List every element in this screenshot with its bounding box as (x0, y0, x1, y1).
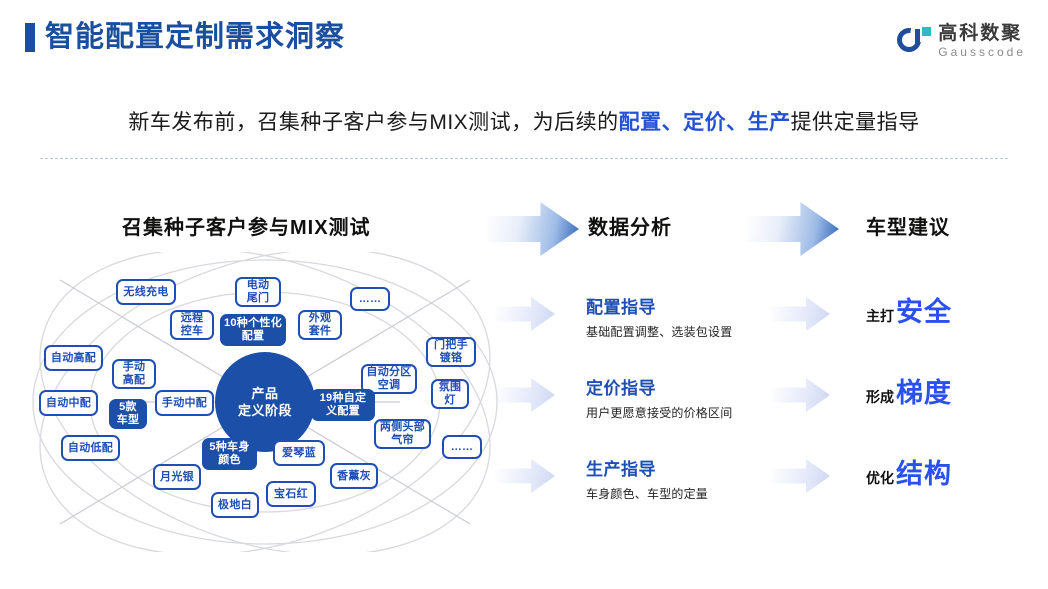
diagram-node: 香薰灰 (330, 463, 378, 489)
diagram-node-label: 手动高配 (123, 361, 146, 387)
analysis-item-pricing: 定价指导 用户更愿意接受的价格区间 (586, 378, 786, 421)
diagram-node: 外观套件 (298, 310, 342, 340)
section-divider (40, 158, 1008, 159)
title-accent-bar (25, 23, 35, 52)
suggestion-item-safety: 主打 安全 (866, 297, 952, 327)
diagram-node: 手动中配 (155, 390, 214, 416)
analysis-item-sub: 基础配置调整、选装包设置 (586, 324, 786, 340)
subtitle-highlight: 配置、定价、生产 (619, 111, 791, 134)
diagram-node-label: 门把手镀铬 (434, 339, 468, 365)
page-title: 智能配置定制需求洞察 (45, 19, 345, 55)
diagram-node: 爱琴蓝 (273, 440, 325, 466)
suggestion-prefix: 优化 (866, 468, 894, 488)
gausscode-logo-icon (897, 24, 931, 58)
diagram-node: 宝石红 (266, 481, 316, 507)
diagram-node-label: 月光银 (160, 471, 194, 484)
analysis-item-production: 生产指导 车身颜色、车型的定量 (586, 459, 786, 502)
logo-bar-shape (915, 29, 920, 45)
hub-node-product-definition: 产品 定义阶段 (215, 352, 315, 452)
flow-arrow-icon-2 (747, 202, 839, 256)
diagram-node-label: 无线充电 (123, 286, 168, 299)
suggestion-item-tier: 形成 梯度 (866, 378, 952, 408)
analysis-item-sub: 车身颜色、车型的定量 (586, 486, 786, 502)
diagram-node-label: 两侧头部气帘 (380, 421, 425, 447)
diagram-node-label: 19种自定义配置 (320, 392, 367, 418)
diagram-node: 19种自定义配置 (311, 389, 375, 421)
diagram-node-label: 10种个性化配置 (224, 317, 282, 343)
slide-header: 智能配置定制需求洞察 高科数聚 Gausscode (0, 0, 1048, 78)
diagram-node: 无线充电 (116, 279, 176, 305)
logo-text-en: Gausscode (938, 46, 1026, 58)
hub-line-1: 产品 (238, 385, 292, 402)
diagram-node-label: 外观套件 (309, 312, 332, 338)
diagram-node: 极地白 (211, 492, 259, 518)
diagram-node: 自动高配 (44, 345, 103, 371)
diagram-node: 电动尾门 (235, 277, 281, 307)
suggestion-keyword: 安全 (896, 297, 952, 327)
subtitle-part-1: 新车发布前，召集种子客户参与MIX测试，为后续的 (128, 111, 618, 134)
diagram-node: 10种个性化配置 (220, 314, 286, 346)
slide-subtitle: 新车发布前，召集种子客户参与MIX测试，为后续的配置、定价、生产提供定量指导 (0, 106, 1048, 136)
diagram-node: 门把手镀铬 (426, 337, 476, 367)
diagram-node-label: 自动分区空调 (366, 366, 411, 392)
diagram-node-label: …… (451, 441, 474, 454)
diagram-node: 手动高配 (112, 359, 156, 389)
diagram-node-label: 自动低配 (68, 442, 113, 455)
analysis-item-title: 配置指导 (586, 297, 786, 319)
diagram-node-label: 香薰灰 (337, 470, 371, 483)
suggestion-keyword: 梯度 (896, 378, 952, 408)
diagram-node: 自动低配 (61, 435, 120, 461)
analysis-item-title: 定价指导 (586, 378, 786, 400)
diagram-node: 月光银 (153, 464, 201, 490)
diagram-node-label: 手动中配 (162, 397, 207, 410)
diagram-node-label: …… (359, 293, 382, 306)
flow-arrow-icon-1 (487, 202, 579, 256)
suggestion-keyword: 结构 (896, 459, 952, 489)
diagram-node: 5款车型 (109, 399, 147, 429)
diagram-node: 氛围灯 (431, 379, 469, 409)
column-heading-middle: 数据分析 (588, 211, 672, 240)
logo-square-shape (922, 27, 931, 36)
column-heading-right: 车型建议 (866, 211, 950, 240)
suggestion-prefix: 形成 (866, 387, 894, 407)
analysis-item-config: 配置指导 基础配置调整、选装包设置 (586, 297, 786, 340)
suggestion-prefix: 主打 (866, 306, 894, 326)
diagram-node-label: 氛围灯 (439, 381, 462, 407)
diagram-node: 自动中配 (39, 390, 98, 416)
column-heading-left: 召集种子客户参与MIX测试 (122, 211, 371, 240)
logo-text-cn: 高科数聚 (938, 24, 1026, 43)
hub-line-2: 定义阶段 (238, 402, 292, 419)
diagram-node-label: 电动尾门 (247, 279, 270, 305)
diagram-node-label: 自动高配 (51, 352, 96, 365)
brand-logo: 高科数聚 Gausscode (897, 20, 1026, 62)
analysis-item-sub: 用户更愿意接受的价格区间 (586, 405, 786, 421)
diagram-node-label: 5种车身颜色 (209, 441, 249, 467)
diagram-node-label: 远程控车 (181, 312, 204, 338)
diagram-node: 远程控车 (170, 310, 214, 340)
diagram-node: 两侧头部气帘 (374, 419, 431, 449)
diagram-node-label: 5款车型 (117, 401, 140, 427)
product-definition-network: 产品 定义阶段 无线充电电动尾门……远程控车10种个性化配置外观套件门把手镀铬自… (20, 252, 520, 552)
analysis-item-title: 生产指导 (586, 459, 786, 481)
logo-ring-shape (893, 23, 926, 56)
diagram-node-label: 极地白 (218, 499, 252, 512)
diagram-node-label: 自动中配 (46, 397, 91, 410)
diagram-node-label: 宝石红 (274, 488, 308, 501)
suggestion-item-structure: 优化 结构 (866, 459, 952, 489)
diagram-node-label: 爱琴蓝 (282, 447, 316, 460)
subtitle-part-2: 提供定量指导 (791, 111, 920, 134)
diagram-node: 5种车身颜色 (202, 438, 257, 470)
diagram-node: …… (350, 287, 390, 311)
diagram-node: …… (442, 435, 482, 459)
